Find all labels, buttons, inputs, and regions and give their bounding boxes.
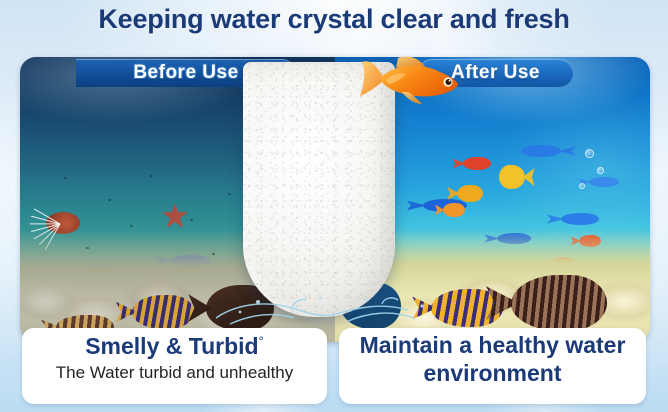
before-caption-subtitle: The Water turbid and unhealthy xyxy=(22,363,327,383)
degree-mark-icon: ° xyxy=(259,333,264,348)
before-caption-title: Smelly & Turbid° xyxy=(22,333,327,359)
orange-fish xyxy=(443,203,465,217)
page-title: Keeping water crystal clear and fresh xyxy=(0,4,668,35)
angelfish xyxy=(132,295,194,329)
yellow-fish xyxy=(499,165,525,189)
striped-fish xyxy=(511,275,607,331)
blue-fish xyxy=(561,213,599,225)
after-caption-box: Maintain a healthy water environment xyxy=(339,328,646,404)
orange-fish xyxy=(457,185,483,202)
before-caption-title-text: Smelly & Turbid xyxy=(85,333,258,359)
before-caption-box: Smelly & Turbid° The Water turbid and un… xyxy=(22,328,327,404)
blue-fish xyxy=(521,145,561,157)
blue-fish xyxy=(589,177,619,187)
product-infographic-poster: Keeping water crystal clear and fresh xyxy=(0,0,668,412)
after-caption-title: Maintain a healthy water environment xyxy=(339,331,646,387)
goldfish xyxy=(358,52,462,108)
red-fish xyxy=(463,157,491,170)
